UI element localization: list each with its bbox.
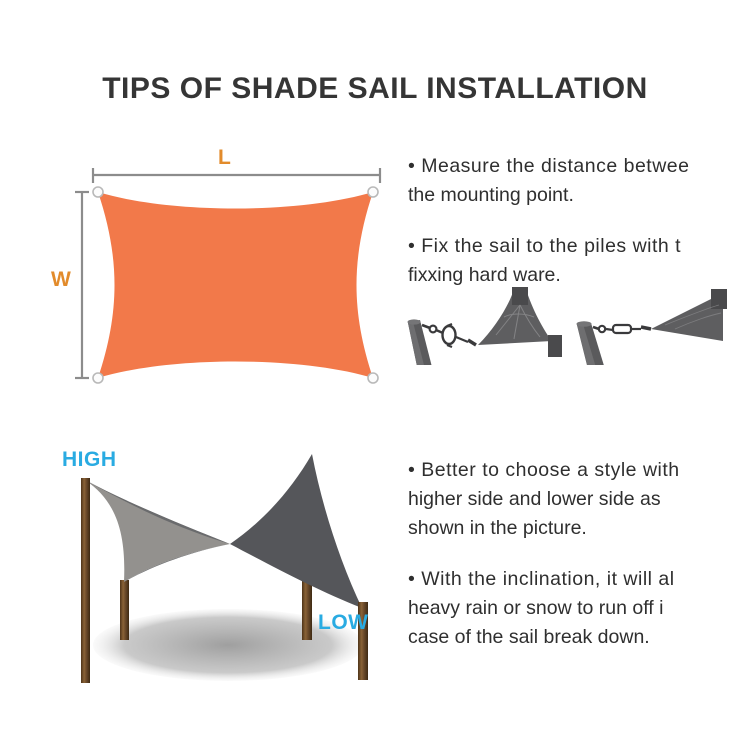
tips-spacer xyxy=(408,210,689,232)
low-side-label: LOW xyxy=(318,611,368,635)
mounting-pole-2 xyxy=(577,321,606,365)
hypar-sail-light-lobe xyxy=(85,480,230,582)
grommet-top-left xyxy=(93,187,103,197)
width-dimension-line xyxy=(75,192,89,378)
tips-list-top: • Measure the distance betwee the mounti… xyxy=(408,152,689,290)
grommet-bottom-right xyxy=(368,373,378,383)
sail-panel-2 xyxy=(651,289,727,341)
tip-1-line-1: • Measure the distance betwee xyxy=(408,152,689,181)
width-label: W xyxy=(51,268,71,292)
tip-2-line-1: • Fix the sail to the piles with t xyxy=(408,232,689,261)
hardware-illustration-pole-to-sail-corner xyxy=(400,283,580,365)
hypar-sail-diagram xyxy=(40,440,420,690)
sail-corner-panel-1 xyxy=(478,287,562,357)
tip-1-line-2: the mounting point. xyxy=(408,181,689,210)
tip-3-line-3: shown in the picture. xyxy=(408,514,680,543)
turnbuckle-chain-2 xyxy=(593,325,651,333)
length-label: L xyxy=(218,146,231,170)
tips-spacer-bottom xyxy=(408,543,680,565)
rectangular-sail-diagram xyxy=(60,140,410,402)
high-side-label: HIGH xyxy=(62,448,117,472)
tip-3-line-2: higher side and lower side as xyxy=(408,485,680,514)
tip-3-line-1: • Better to choose a style with xyxy=(408,456,680,485)
grommet-top-right xyxy=(368,187,378,197)
tips-list-bottom: • Better to choose a style with higher s… xyxy=(408,456,680,652)
hypar-sail-dark-lobe xyxy=(230,454,362,608)
infographic-page: TIPS OF SHADE SAIL INSTALLATION L W • Me… xyxy=(0,0,750,750)
tip-4-line-3: case of the sail break down. xyxy=(408,623,680,652)
length-dimension-line xyxy=(93,168,380,183)
turnbuckle-chain-1 xyxy=(422,324,476,347)
orange-sail-shape xyxy=(98,192,373,378)
post-front-left xyxy=(81,478,90,683)
page-title: TIPS OF SHADE SAIL INSTALLATION xyxy=(0,72,750,106)
post-back-left xyxy=(120,580,129,640)
tip-4-line-2: heavy rain or snow to run off i xyxy=(408,594,680,623)
grommet-bottom-left xyxy=(93,373,103,383)
tip-4-line-1: • With the inclination, it will al xyxy=(408,565,680,594)
hardware-illustration-pole-to-sail-edge xyxy=(565,283,750,365)
